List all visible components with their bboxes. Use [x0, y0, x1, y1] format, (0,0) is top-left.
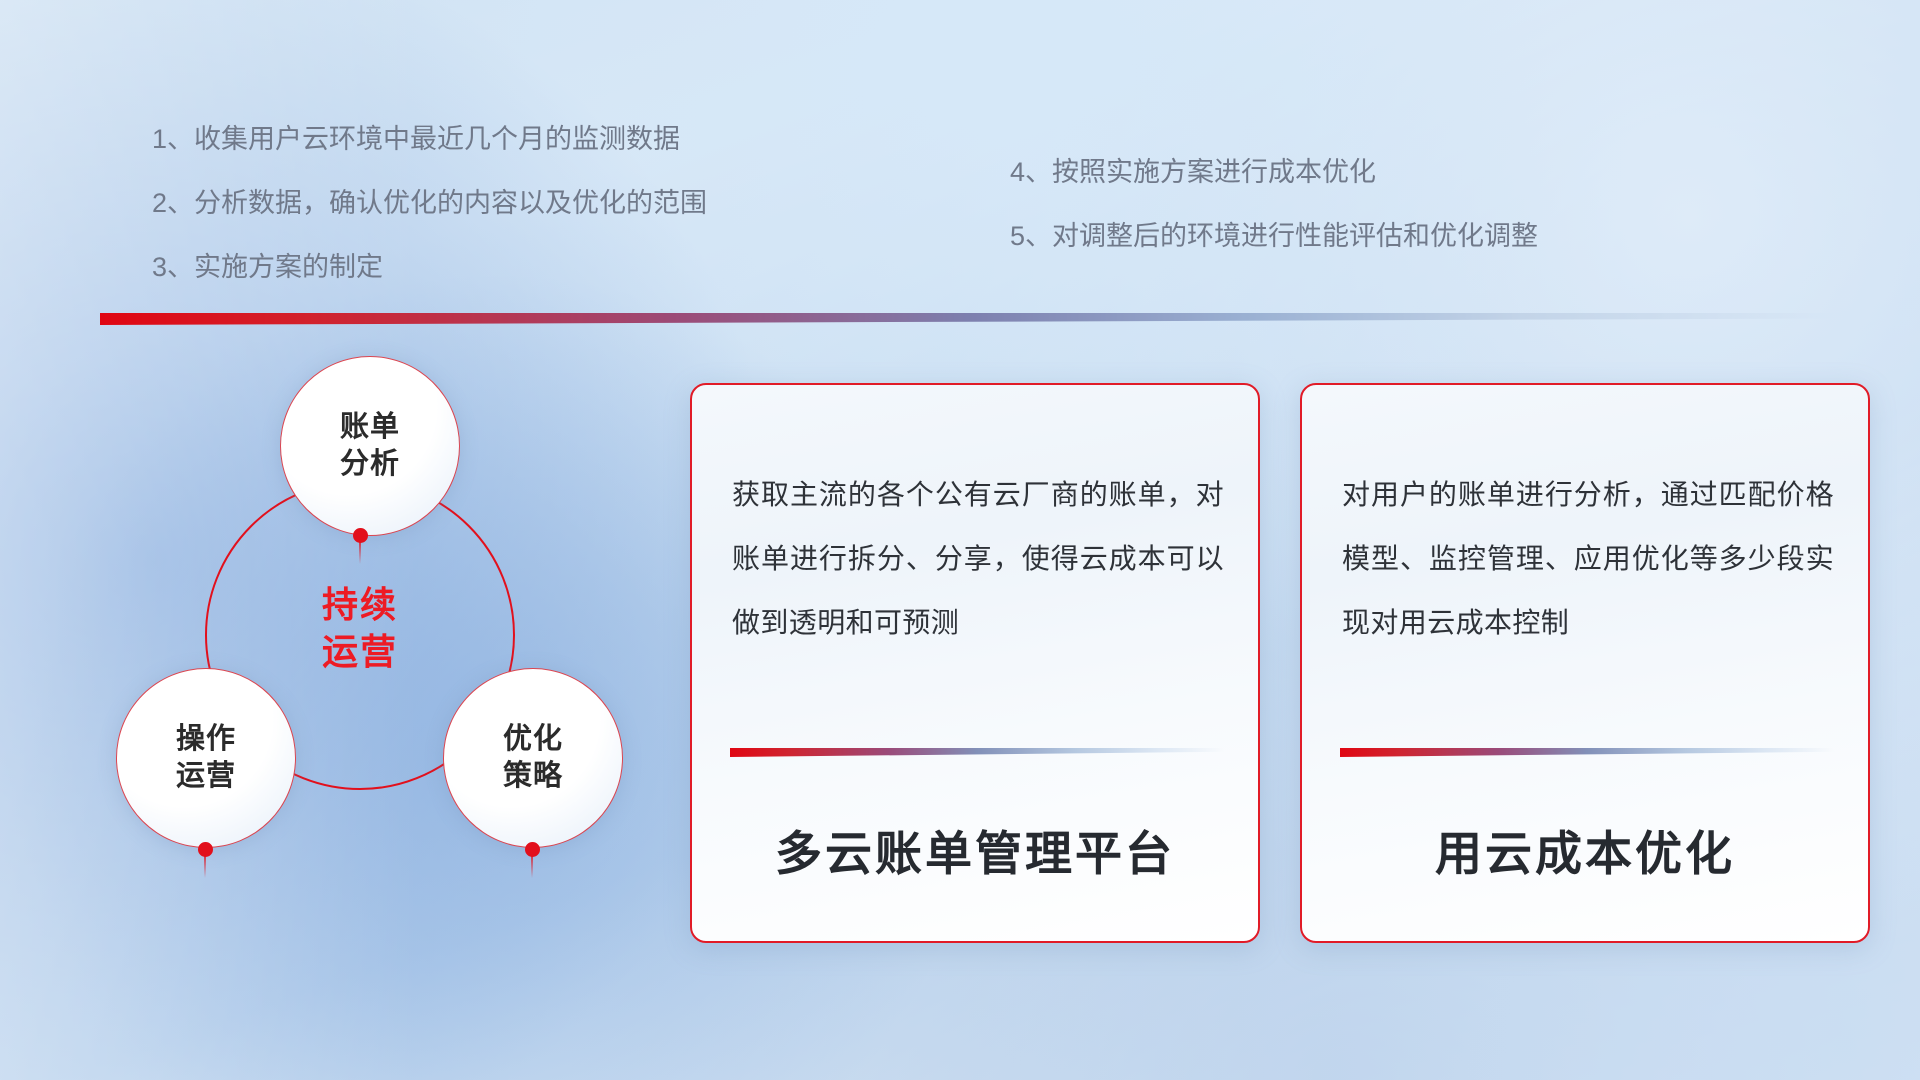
- bullet-item: 4、按照实施方案进行成本优化: [1010, 159, 1538, 186]
- card-cloud-cost-optimization[interactable]: 对用户的账单进行分析，通过匹配价格模型、监控管理、应用优化等多少段实现对用云成本…: [1300, 383, 1870, 943]
- bubble-label-line-1: 账单: [340, 409, 400, 446]
- node-dot-right: [525, 842, 540, 857]
- bubble-label-line-2: 运营: [176, 758, 236, 795]
- card-accent-rule: [730, 748, 1224, 757]
- bullet-item: 2、分析数据，确认优化的内容以及优化的范围: [152, 190, 707, 217]
- center-label-line-2: 运营: [255, 629, 465, 676]
- card-title: 用云成本优化: [1302, 815, 1868, 884]
- diagram-center-label: 持续 运营: [255, 582, 465, 676]
- bubble-label-line-2: 策略: [503, 758, 563, 795]
- card-accent-rule: [1340, 748, 1834, 757]
- bubble-operations[interactable]: 操作 运营: [116, 668, 296, 848]
- bullet-item: 1、收集用户云环境中最近几个月的监测数据: [152, 126, 707, 153]
- continuous-operation-diagram: 持续 运营 账单 分析 操作 运营 优化 策略: [95, 350, 655, 960]
- node-dot-top: [353, 528, 368, 543]
- center-label-line-1: 持续: [255, 582, 465, 629]
- card-description: 获取主流的各个公有云厂商的账单，对账单进行拆分、分享，使得云成本可以做到透明和可…: [732, 463, 1224, 654]
- bubble-label-line-2: 分析: [340, 446, 400, 483]
- card-title: 多云账单管理平台: [692, 815, 1258, 884]
- bullet-item: 3、实施方案的制定: [152, 254, 707, 281]
- node-tail-left: [204, 854, 206, 878]
- bullet-list-left: 1、收集用户云环境中最近几个月的监测数据 2、分析数据，确认优化的内容以及优化的…: [152, 126, 707, 318]
- bullet-list-right: 4、按照实施方案进行成本优化 5、对调整后的环境进行性能评估和优化调整: [1010, 159, 1538, 287]
- bubble-label: 账单 分析: [340, 409, 400, 483]
- node-tail-right: [531, 854, 533, 878]
- card-multi-cloud-billing-platform[interactable]: 获取主流的各个公有云厂商的账单，对账单进行拆分、分享，使得云成本可以做到透明和可…: [690, 383, 1260, 943]
- section-divider: [100, 313, 1835, 325]
- node-dot-left: [198, 842, 213, 857]
- bullet-item: 5、对调整后的环境进行性能评估和优化调整: [1010, 223, 1538, 250]
- card-description: 对用户的账单进行分析，通过匹配价格模型、监控管理、应用优化等多少段实现对用云成本…: [1342, 463, 1834, 654]
- bubble-label: 操作 运营: [176, 721, 236, 795]
- slide-canvas: 1、收集用户云环境中最近几个月的监测数据 2、分析数据，确认优化的内容以及优化的…: [0, 0, 1920, 1080]
- bubble-billing-analysis[interactable]: 账单 分析: [280, 356, 460, 536]
- bubble-optimization-strategy[interactable]: 优化 策略: [443, 668, 623, 848]
- bubble-label-line-1: 优化: [503, 721, 563, 758]
- bubble-label-line-1: 操作: [176, 721, 236, 758]
- bubble-label: 优化 策略: [503, 721, 563, 795]
- node-tail-top: [359, 540, 361, 564]
